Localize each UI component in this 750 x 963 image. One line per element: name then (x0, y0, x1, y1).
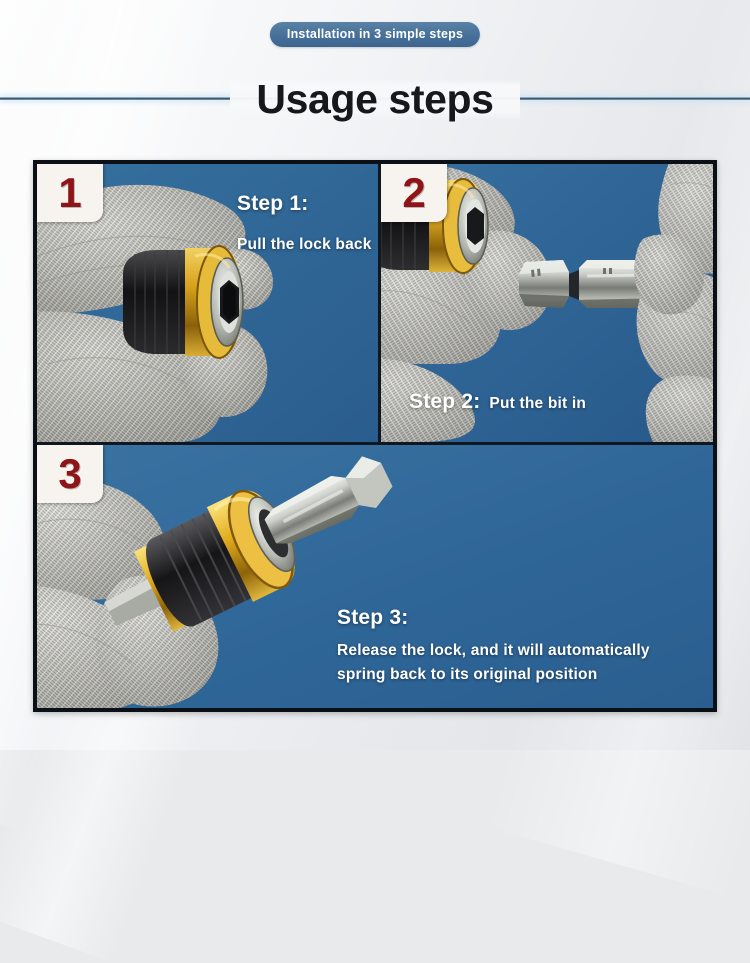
step-3-body-line-2: spring back to its original position (337, 663, 650, 687)
step-1-heading: Step 1: (237, 192, 372, 216)
step-panel-2: 2 Step 2: Put the bit in (381, 164, 713, 442)
steps-figure: 1 Step 1: Pull the lock back (33, 160, 717, 712)
step-2-number-badge: 2 (381, 164, 447, 222)
step-3-caption: Step 3: Release the lock, and it will au… (337, 606, 650, 687)
title-row: Usage steps (0, 72, 750, 126)
step-2-number: 2 (402, 172, 425, 214)
step-1-number: 1 (58, 172, 81, 214)
step-3-number: 3 (58, 453, 81, 495)
step-1-number-badge: 1 (37, 164, 103, 222)
step-2-caption: Step 2: Put the bit in (409, 390, 586, 414)
page-title: Usage steps (230, 79, 519, 120)
step-1-caption: Step 1: Pull the lock back (237, 192, 372, 254)
step-3-heading: Step 3: (337, 606, 650, 630)
steps-row-top: 1 Step 1: Pull the lock back (37, 164, 713, 442)
installation-pill-badge: Installation in 3 simple steps (270, 22, 480, 47)
step-3-number-badge: 3 (37, 445, 103, 503)
step-2-body: Put the bit in (489, 395, 586, 413)
usage-steps-infographic: Installation in 3 simple steps Usage ste… (0, 0, 750, 750)
step-panel-3: 3 Step 3: Release the lock, and it will … (37, 445, 713, 711)
step-2-heading: Step 2: (409, 390, 480, 414)
steps-row-bottom: 3 Step 3: Release the lock, and it will … (37, 442, 713, 711)
step-panel-1: 1 Step 1: Pull the lock back (37, 164, 381, 442)
step-3-body-line-1: Release the lock, and it will automatica… (337, 639, 650, 663)
step-1-body: Pull the lock back (237, 236, 372, 254)
